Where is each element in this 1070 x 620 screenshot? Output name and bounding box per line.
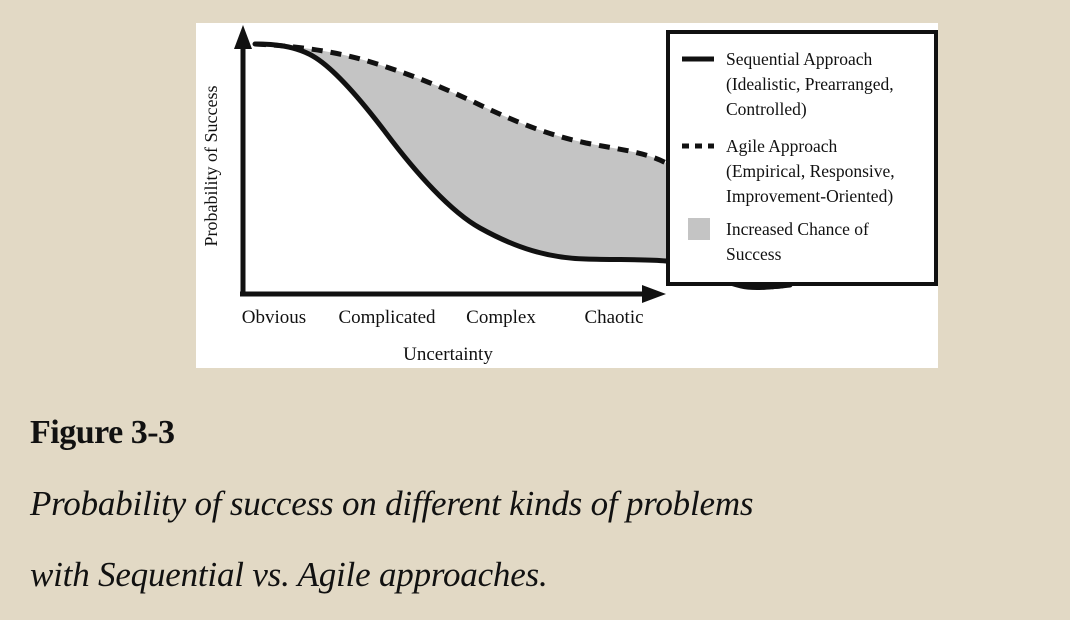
x-tick-label-complicated: Complicated xyxy=(338,307,436,328)
figure-caption-body: Probability of success on different kind… xyxy=(30,468,1050,610)
legend-gray-fill-swatch xyxy=(688,218,710,240)
legend-label-sequential-2: (Idealistic, Prearranged, xyxy=(726,74,894,94)
y-axis xyxy=(234,25,252,294)
x-tick-label-chaotic: Chaotic xyxy=(584,307,643,328)
legend-box xyxy=(668,32,936,284)
chart-svg: Probability of Success Obvious Complicat… xyxy=(196,23,938,368)
x-tick-label-complex: Complex xyxy=(466,307,536,328)
x-tick-label-obvious: Obvious xyxy=(242,307,306,328)
figure-panel: Probability of Success Obvious Complicat… xyxy=(196,23,938,368)
x-axis-title: Uncertainty xyxy=(403,344,493,365)
figure-caption-title: Figure 3-3 xyxy=(30,412,1050,454)
legend-label-agile-2: (Empirical, Responsive, xyxy=(726,161,895,181)
y-axis-title: Probability of Success xyxy=(201,86,221,247)
x-axis xyxy=(240,285,666,303)
legend-label-agile-3: Improvement-Oriented) xyxy=(726,186,893,206)
legend-label-sequential-1: Sequential Approach xyxy=(726,49,873,69)
legend-label-agile-1: Agile Approach xyxy=(726,136,838,156)
legend-label-increased-2: Success xyxy=(726,244,782,264)
chart-legend: Sequential Approach (Idealistic, Prearra… xyxy=(668,32,936,284)
legend-label-increased-1: Increased Chance of xyxy=(726,219,869,239)
figure-caption-block: Figure 3-3 Probability of success on dif… xyxy=(30,412,1050,610)
legend-label-sequential-3: Controlled) xyxy=(726,99,807,119)
